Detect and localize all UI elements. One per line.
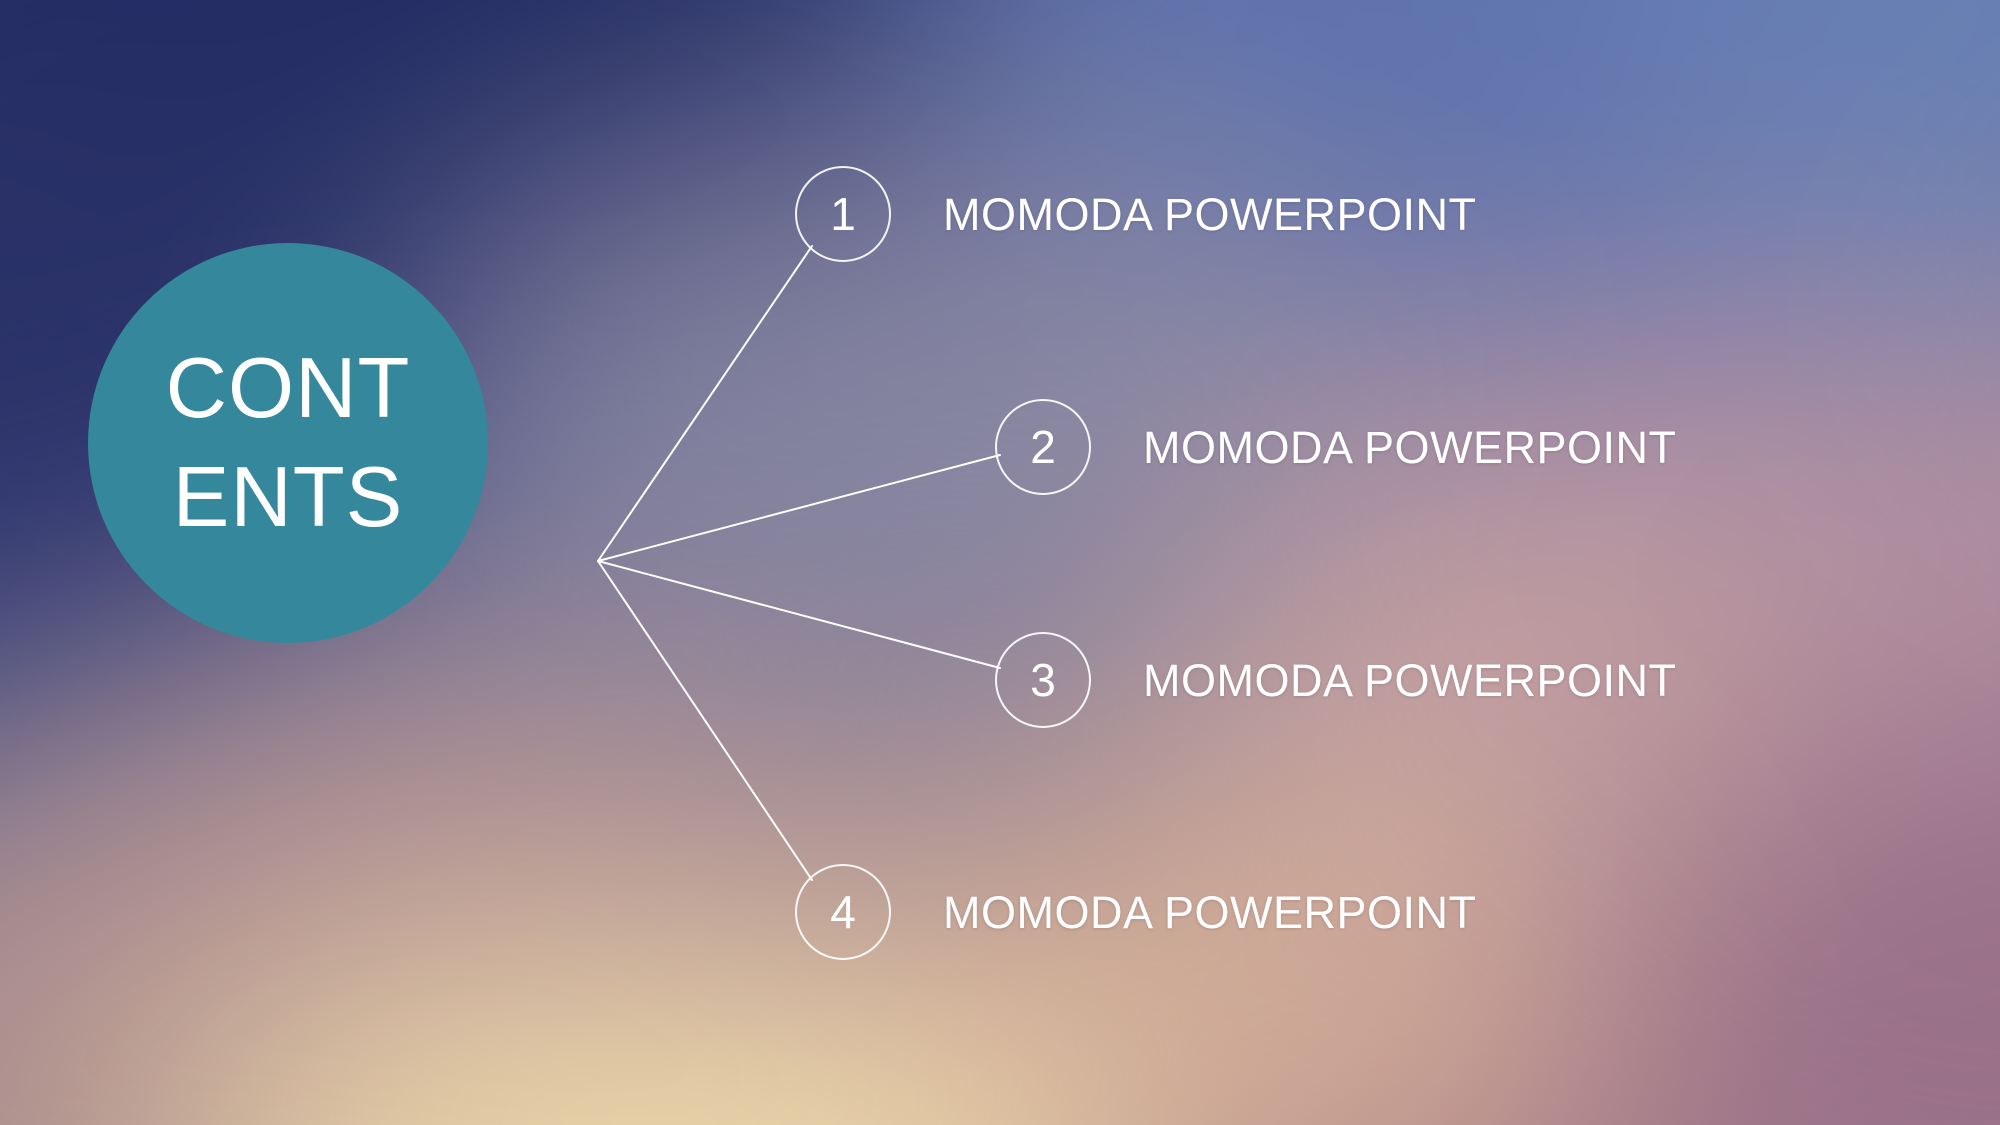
- contents-item-1[interactable]: 1 MOMODA POWERPOINT: [795, 166, 1477, 262]
- connector-line-4: [598, 561, 812, 880]
- contents-item-3[interactable]: 3 MOMODA POWERPOINT: [995, 632, 1677, 728]
- contents-slide: CONT ENTS 1 MOMODA POWERPOINT 2 MOMODA P…: [0, 0, 2000, 1125]
- contents-title-line-1: CONT: [166, 346, 411, 431]
- connector-line-2: [598, 455, 1000, 561]
- contents-hub-circle: CONT ENTS: [88, 243, 488, 643]
- item-number-circle-4: 4: [795, 864, 891, 960]
- item-label-2: MOMODA POWERPOINT: [1143, 425, 1677, 470]
- item-label-1: MOMODA POWERPOINT: [943, 192, 1477, 237]
- item-number-circle-1: 1: [795, 166, 891, 262]
- item-number-circle-3: 3: [995, 632, 1091, 728]
- contents-title-line-2: ENTS: [173, 455, 404, 540]
- connector-line-1: [598, 246, 812, 561]
- blob-gold-glow: [136, 941, 1048, 1125]
- blob-plum: [1528, 725, 2000, 1125]
- connector-line-3: [598, 561, 1000, 668]
- contents-item-2[interactable]: 2 MOMODA POWERPOINT: [995, 399, 1677, 495]
- blob-gold-glow-core: [520, 1049, 1144, 1125]
- blob-rose-secondary: [0, 860, 376, 1125]
- item-number-circle-2: 2: [995, 399, 1091, 495]
- item-label-3: MOMODA POWERPOINT: [1143, 658, 1677, 703]
- contents-item-4[interactable]: 4 MOMODA POWERPOINT: [795, 864, 1477, 960]
- blob-mauve: [1192, 293, 2000, 941]
- item-label-4: MOMODA POWERPOINT: [943, 890, 1477, 935]
- blob-blue-secondary: [1576, 0, 2000, 293]
